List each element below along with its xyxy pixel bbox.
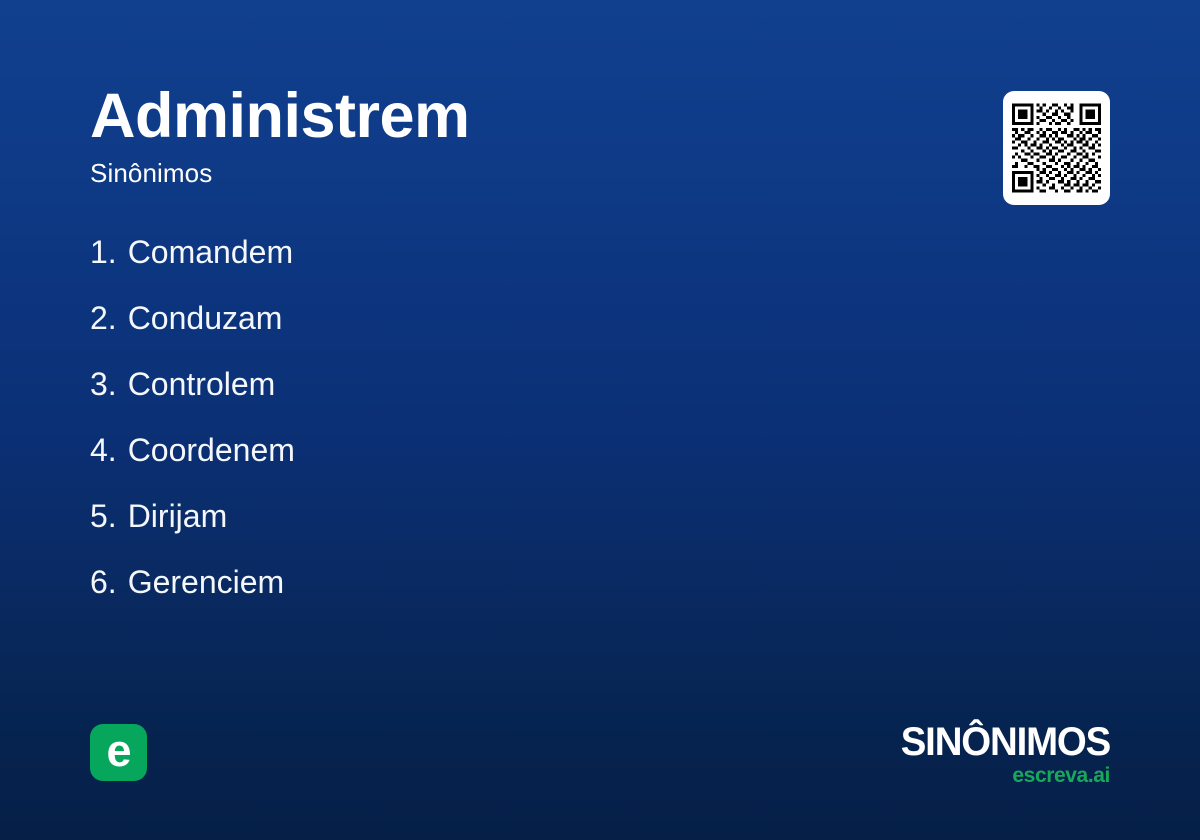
list-item: 1. Comandem [90, 236, 295, 302]
list-item: 2. Conduzam [90, 302, 295, 368]
page-title: Administrem [90, 84, 1110, 148]
list-item-word: Controlem [128, 368, 276, 400]
list-item-index: 1. [90, 236, 117, 268]
sinonimos-logo-wordmark: SINÔNIMOS [901, 722, 1110, 762]
qr-code-icon [1012, 100, 1101, 196]
escreva-badge-icon[interactable]: e [90, 724, 147, 781]
list-item: 6. Gerenciem [90, 566, 295, 632]
synonyms-list: 1. Comandem 2. Conduzam 3. Controlem 4. … [90, 236, 295, 632]
list-item-word: Conduzam [128, 302, 283, 334]
sinonimos-logo[interactable]: SINÔNIMOS escreva.ai [892, 722, 1110, 786]
list-item: 5. Dirijam [90, 500, 295, 566]
list-item: 3. Controlem [90, 368, 295, 434]
list-item-index: 6. [90, 566, 117, 598]
synonym-card: Administrem Sinônimos [0, 0, 1200, 840]
list-item-index: 5. [90, 500, 117, 532]
escreva-badge-letter: e [106, 728, 130, 773]
header: Administrem Sinônimos [90, 84, 1110, 186]
list-item-index: 3. [90, 368, 117, 400]
list-item-word: Gerenciem [128, 566, 285, 598]
list-item-word: Dirijam [128, 500, 228, 532]
list-item-word: Comandem [128, 236, 293, 268]
sinonimos-logo-tagline: escreva.ai [892, 765, 1110, 786]
list-item-index: 2. [90, 302, 117, 334]
qr-code-card[interactable] [1003, 91, 1110, 205]
list-item-word: Coordenem [128, 434, 295, 466]
page-subtitle: Sinônimos [90, 160, 1110, 186]
list-item-index: 4. [90, 434, 117, 466]
list-item: 4. Coordenem [90, 434, 295, 500]
